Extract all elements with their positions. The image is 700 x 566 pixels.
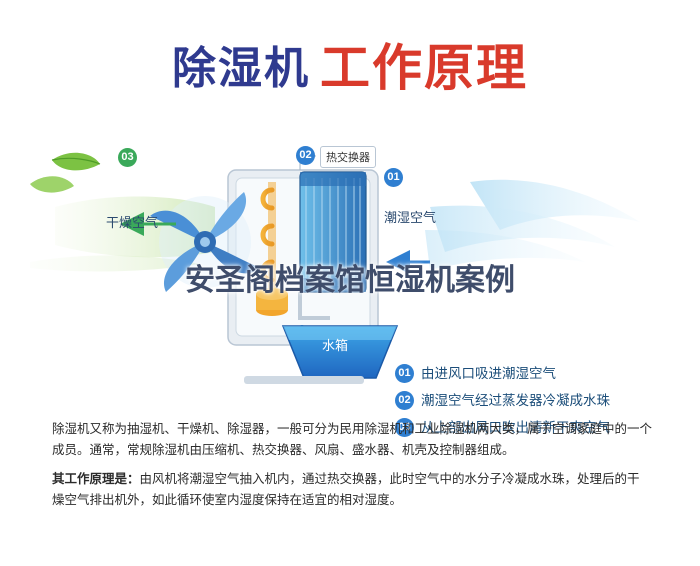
label-dry-air: 干燥空气 [106, 212, 158, 231]
step-badge: 01 [395, 364, 414, 383]
badge-01-humid-air: 01 [384, 168, 403, 187]
description-block: 除湿机又称为抽湿机、干燥机、除湿器，一般可分为民用除湿机和工业除湿机两大类，属于… [52, 418, 652, 518]
description-paragraph-2-text: 由风机将潮湿空气抽入机内，通过热交换器，此时空气中的水分子冷凝成水珠，处理后的干… [52, 471, 640, 507]
badge-02-heat-exchanger: 02 [296, 146, 315, 165]
step-label: 潮湿空气经过蒸发器冷凝成水珠 [421, 388, 610, 415]
title-part-2: 工作原理 [320, 39, 528, 97]
step-label: 由进风口吸进潮湿空气 [421, 361, 556, 388]
label-heat-exchanger: 热交换器 [320, 146, 376, 168]
step-item: 02 潮湿空气经过蒸发器冷凝成水珠 [395, 387, 695, 414]
page-title: 除湿机工作原理 [0, 28, 700, 100]
description-lead: 其工作原理是： [52, 471, 140, 486]
step-item: 01 由进风口吸进潮湿空气 [395, 360, 695, 387]
step-badge: 02 [395, 391, 414, 410]
page-root: 除湿机工作原理 [0, 0, 700, 566]
badge-03-dry-air: 03 [118, 148, 137, 167]
description-paragraph-2: 其工作原理是：由风机将潮湿空气抽入机内，通过热交换器，此时空气中的水分子冷凝成水… [52, 468, 652, 510]
label-water-tank: 水箱 [322, 335, 348, 354]
label-humid-air: 潮湿空气 [384, 207, 436, 226]
leaf-icon [30, 153, 100, 193]
title-part-1: 除湿机 [172, 43, 310, 94]
description-paragraph-1: 除湿机又称为抽湿机、干燥机、除湿器，一般可分为民用除湿机和工业除湿机两大类，属于… [52, 418, 652, 460]
watermark-text: 安圣阁档案馆恒湿机案例 [0, 255, 700, 299]
